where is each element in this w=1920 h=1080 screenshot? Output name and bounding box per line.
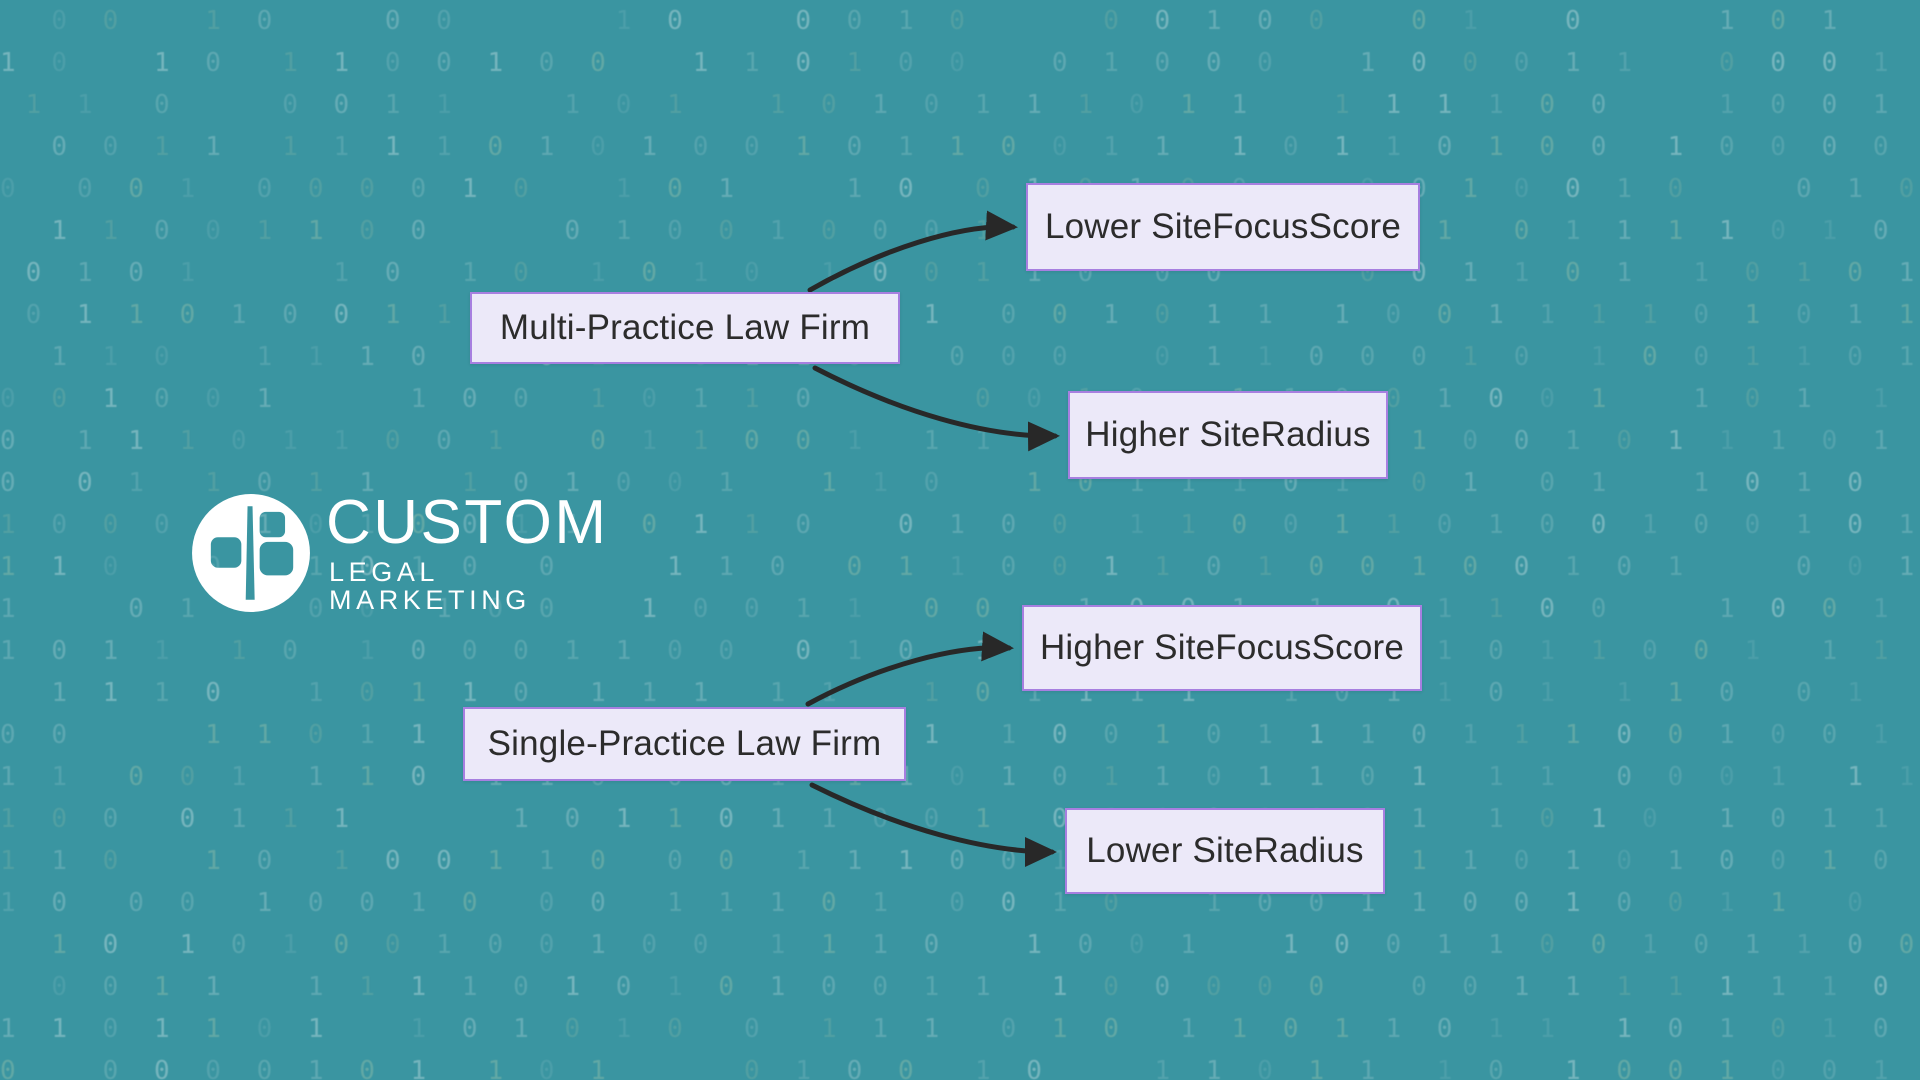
edge-single-to-higher-sitefocusscore — [808, 648, 1009, 704]
edge-multi-to-lower-sitefocusscore — [810, 227, 1013, 290]
node-higher-siteradius[interactable]: Higher SiteRadius — [1068, 391, 1388, 479]
node-label: Higher SiteFocusScore — [1040, 628, 1404, 668]
node-label: Lower SiteFocusScore — [1045, 207, 1401, 247]
node-lower-siteradius[interactable]: Lower SiteRadius — [1065, 808, 1385, 894]
brand-logo: CUSTOM LEGAL MARKETING — [190, 480, 650, 625]
node-multi-practice-law-firm[interactable]: Multi-Practice Law Firm — [470, 292, 900, 364]
diagram-canvas: 0 0 1 0 0 0 1 0 0 0 1 0 0 0 1 0 0 0 1 0 … — [0, 0, 1920, 1080]
logo-tagline: LEGAL MARKETING — [329, 558, 650, 615]
node-label: Multi-Practice Law Firm — [500, 308, 870, 348]
node-label: Higher SiteRadius — [1085, 415, 1371, 455]
edge-single-to-lower-siteradius — [812, 785, 1052, 852]
node-higher-sitefocusscore[interactable]: Higher SiteFocusScore — [1022, 605, 1422, 691]
node-single-practice-law-firm[interactable]: Single-Practice Law Firm — [463, 707, 906, 781]
custom-legal-marketing-mark-icon — [190, 492, 312, 614]
node-label: Single-Practice Law Firm — [488, 724, 882, 764]
logo-wordmark: CUSTOM LEGAL MARKETING — [326, 493, 650, 614]
logo-brand-name: CUSTOM — [326, 493, 650, 554]
node-lower-sitefocusscore[interactable]: Lower SiteFocusScore — [1026, 183, 1420, 271]
node-label: Lower SiteRadius — [1086, 831, 1364, 871]
edge-multi-to-higher-siteradius — [815, 368, 1055, 436]
